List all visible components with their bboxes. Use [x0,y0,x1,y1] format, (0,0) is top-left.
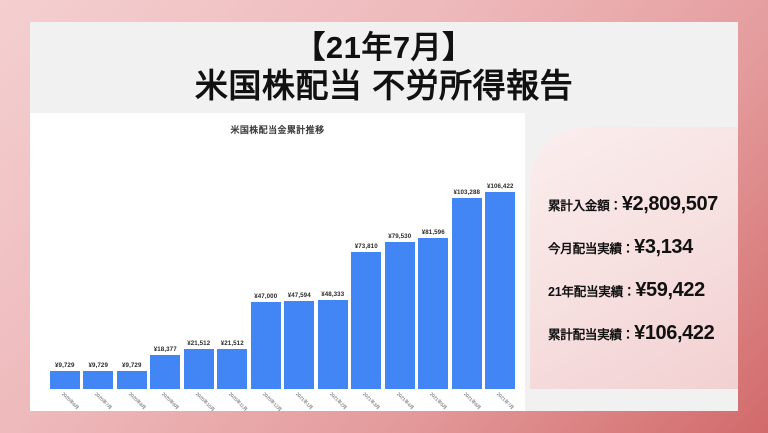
chart-bar-rect [351,252,381,389]
chart-bar-value-label: ¥106,422 [487,183,514,190]
stat-value: ¥3,134 [634,236,693,258]
chart-bar-value-label: ¥103,288 [453,189,480,196]
chart-x-axis-label: 2021年7月 [495,391,515,411]
chart-x-axis-label: 2021年6月 [462,391,482,411]
stat-value: ¥59,422 [635,279,705,301]
chart-bar-rect [217,349,247,389]
chart-x-axis-label: 2020年12月 [261,391,283,411]
stat-row: 累計入金額：¥2,809,507 [548,193,738,216]
page-title: 【21年7月】 米国株配当 不労所得報告 [30,30,738,106]
stat-row: 今月配当実績：¥3,134 [548,236,738,259]
chart-bar: ¥81,5962021年5月 [418,135,448,389]
chart-bar-value-label: ¥73,810 [355,243,378,250]
chart-bar-rect [117,371,147,389]
stat-label: 累計配当実績： [548,328,634,342]
chart-x-axis-label: 2020年7月 [93,391,113,411]
chart-bar-value-label: ¥9,729 [122,362,142,369]
chart-bar-rect [150,355,180,389]
chart-bar-rect [184,349,214,389]
chart-bar-value-label: ¥21,512 [187,340,210,347]
slide-frame: 【21年7月】 米国株配当 不労所得報告 米国株配当金累計推移 ¥9,72920… [0,0,768,433]
chart-bar-rect [284,301,314,389]
chart-x-axis-label: 2021年4月 [395,391,415,411]
stat-value: ¥106,422 [634,322,714,344]
page-title-line1: 【21年7月】 [30,30,738,67]
dividend-cumulative-bar-chart: 米国株配当金累計推移 ¥9,7292020年6月¥9,7292020年7月¥9,… [30,113,525,411]
chart-bar: ¥79,5302021年4月 [385,135,415,389]
stat-label: 21年配当実績： [548,285,635,299]
stat-label: 累計入金額： [548,199,622,213]
chart-bar-rect [83,371,113,389]
stat-row: 21年配当実績：¥59,422 [548,279,738,302]
chart-bar-rect [251,302,281,389]
chart-x-axis-label: 2020年11月 [227,391,248,411]
chart-bar: ¥47,0002020年12月 [251,135,281,389]
chart-bar: ¥73,8102021年3月 [351,135,381,389]
chart-bar-rect [385,242,415,389]
chart-x-axis-label: 2020年6月 [60,391,80,411]
chart-x-axis-label: 2020年10月 [194,391,216,411]
chart-x-axis-label: 2020年9月 [160,391,180,411]
chart-bar-value-label: ¥21,512 [221,340,244,347]
stat-value: ¥2,809,507 [622,193,718,215]
chart-bar-value-label: ¥79,530 [388,233,411,240]
chart-bar-rect [418,238,448,389]
chart-x-axis-label: 2021年3月 [361,391,381,411]
chart-bar: ¥9,7292020年6月 [50,135,80,389]
chart-bar: ¥9,7292020年7月 [83,135,113,389]
chart-bar: ¥21,5122020年11月 [217,135,247,389]
chart-bar: ¥21,5122020年10月 [184,135,214,389]
page-title-line2: 米国株配当 不労所得報告 [30,67,738,106]
chart-bar-value-label: ¥9,729 [55,362,75,369]
chart-plot-area: ¥9,7292020年6月¥9,7292020年7月¥9,7292020年8月¥… [48,135,517,389]
chart-bar-rect [452,198,482,389]
chart-bar-value-label: ¥81,596 [422,229,445,236]
chart-x-axis-label: 2021年5月 [428,391,448,411]
chart-bar: ¥18,3772020年9月 [150,135,180,389]
chart-bar-rect [50,371,80,389]
chart-bar-rect [318,300,348,390]
chart-bar-value-label: ¥48,333 [321,291,344,298]
chart-bar: ¥47,5942021年1月 [284,135,314,389]
chart-bar: ¥9,7292020年8月 [117,135,147,389]
chart-bar-value-label: ¥47,594 [288,292,311,299]
stat-label: 今月配当実績： [548,242,634,256]
chart-bar: ¥106,4222021年7月 [485,135,515,389]
summary-stats-panel: 累計入金額：¥2,809,507今月配当実績：¥3,13421年配当実績：¥59… [530,127,738,389]
stat-row: 累計配当実績：¥106,422 [548,322,738,345]
chart-x-axis-label: 2021年2月 [328,391,348,411]
chart-bar: ¥103,2882021年6月 [452,135,482,389]
chart-x-axis-label: 2020年8月 [127,391,147,411]
chart-bar-value-label: ¥18,377 [154,346,177,353]
chart-bar-value-label: ¥9,729 [88,362,108,369]
content-card: 【21年7月】 米国株配当 不労所得報告 米国株配当金累計推移 ¥9,72920… [30,22,738,411]
chart-bar: ¥48,3332021年2月 [318,135,348,389]
chart-bar-value-label: ¥47,000 [254,293,277,300]
chart-bar-rect [485,192,515,389]
chart-x-axis-label: 2021年1月 [294,391,314,411]
